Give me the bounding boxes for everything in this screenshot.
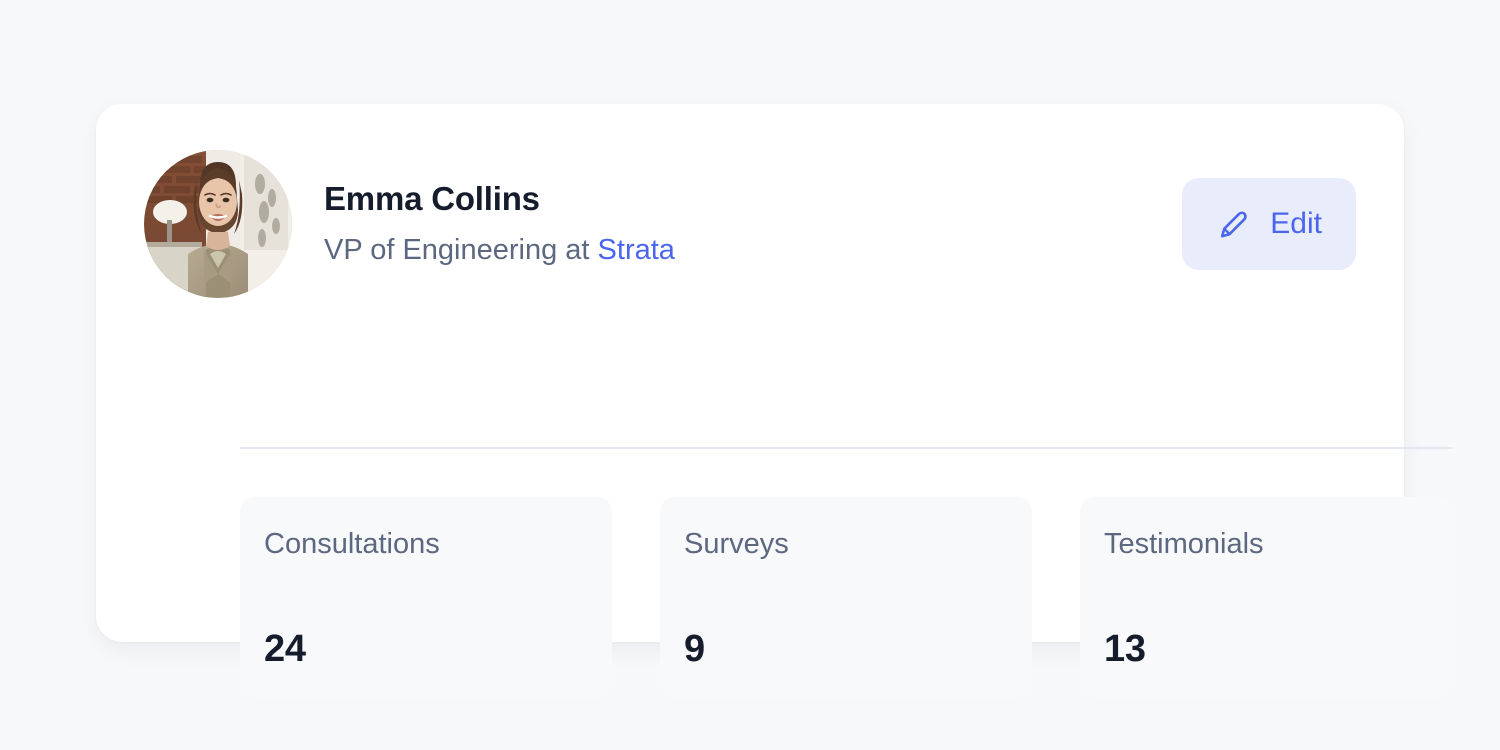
edit-button[interactable]: Edit bbox=[1182, 178, 1356, 270]
profile-header: Emma Collins VP of Engineering at Strata… bbox=[144, 148, 1356, 300]
edit-button-label: Edit bbox=[1270, 209, 1322, 239]
stat-value: 13 bbox=[1104, 630, 1428, 670]
avatar bbox=[144, 150, 292, 298]
identity-block: Emma Collins VP of Engineering at Strata bbox=[324, 180, 675, 268]
page-root: Emma Collins VP of Engineering at Strata… bbox=[0, 0, 1500, 750]
stat-value: 9 bbox=[684, 630, 1008, 670]
profile-card: Emma Collins VP of Engineering at Strata… bbox=[96, 104, 1404, 642]
person-role-prefix: VP of Engineering at bbox=[324, 234, 598, 266]
stat-card-surveys: Surveys 9 bbox=[660, 497, 1032, 698]
person-name: Emma Collins bbox=[324, 180, 675, 219]
stat-card-testimonials: Testimonials 13 bbox=[1080, 497, 1452, 698]
stats-row: Consultations 24 Surveys 9 Testimonials … bbox=[240, 497, 1452, 698]
stat-value: 24 bbox=[264, 630, 588, 670]
stat-label: Testimonials bbox=[1104, 527, 1428, 562]
company-link[interactable]: Strata bbox=[598, 234, 675, 266]
section-divider bbox=[240, 447, 1452, 449]
stat-label: Consultations bbox=[264, 527, 588, 562]
person-role: VP of Engineering at Strata bbox=[324, 233, 675, 268]
stat-label: Surveys bbox=[684, 527, 1008, 562]
stat-card-consultations: Consultations 24 bbox=[240, 497, 612, 698]
pencil-icon bbox=[1216, 206, 1252, 242]
